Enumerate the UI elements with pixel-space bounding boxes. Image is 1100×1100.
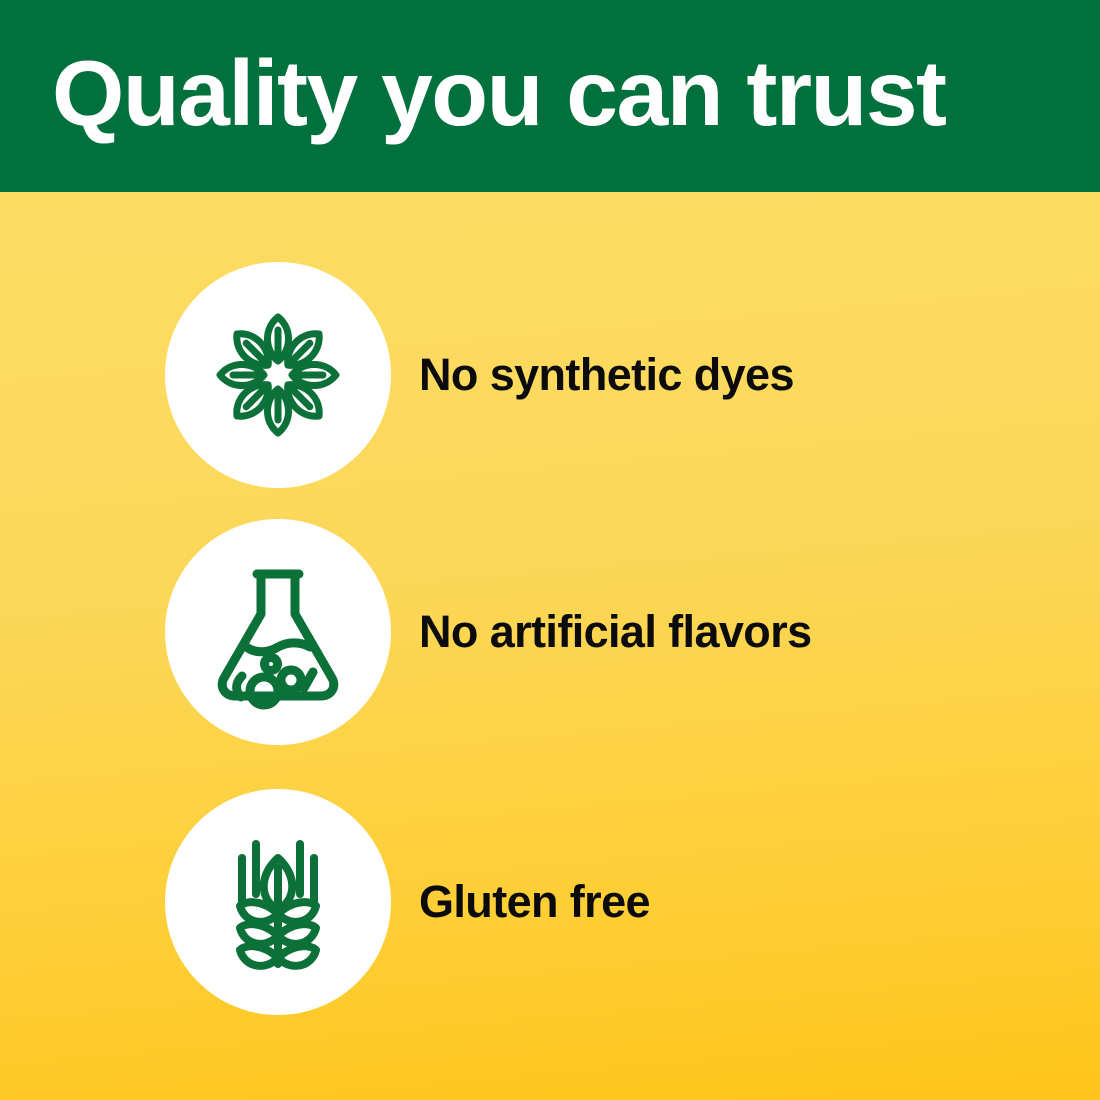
feature-label-0: No synthetic dyes [419,349,794,401]
page-title: Quality you can trust [52,47,946,140]
feature-row: No synthetic dyes [0,262,1100,488]
feature-badge-2 [165,789,391,1015]
feature-badge-0 [165,262,391,488]
wheat-stalk-icon [198,822,358,982]
promo-graphic: Quality you can trust [0,0,1100,1100]
feature-badge-1 [165,519,391,745]
flower-petals-icon [198,295,358,455]
header-banner: Quality you can trust [0,0,1100,192]
erlenmeyer-flask-icon [198,552,358,712]
feature-row: Gluten free [0,789,1100,1015]
feature-label-2: Gluten free [419,876,650,928]
feature-row: No artificial flavors [0,519,1100,745]
feature-label-1: No artificial flavors [419,606,812,658]
